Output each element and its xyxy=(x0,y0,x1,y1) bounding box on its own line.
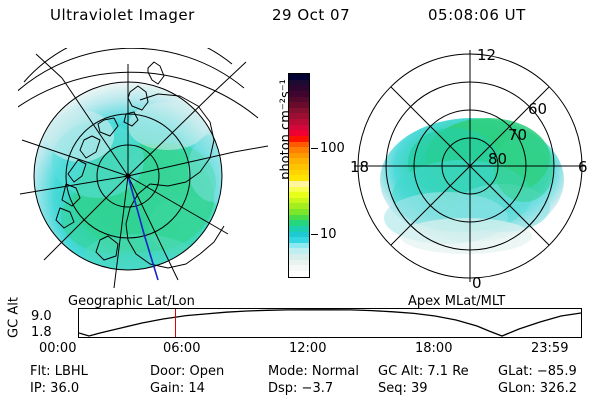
time-tick-1800: 18:00 xyxy=(415,341,452,356)
gc-alt-tick-low: 1.8 xyxy=(31,326,52,339)
colorbar-label-10: 10 xyxy=(320,228,337,241)
page-title: Ultraviolet Imager xyxy=(50,6,195,24)
time-tick-1200: 12:00 xyxy=(289,341,326,356)
magnetic-polar-plot[interactable]: 12 6 0 18 60 70 80 xyxy=(342,40,597,292)
colorbar-gradient xyxy=(288,73,310,278)
observation-time: 05:08:06 UT xyxy=(428,6,526,24)
status-door: Door: Open xyxy=(150,364,224,379)
pole-marker xyxy=(125,173,130,178)
mlt-label-18: 18 xyxy=(350,158,369,176)
status-dsp: Dsp: −3.7 xyxy=(268,381,333,396)
gc-alt-axis-label: GC Alt xyxy=(7,290,22,346)
colorbar-legend: photon cm⁻²s⁻¹ 100 10 xyxy=(268,60,338,290)
status-ip: IP: 36.0 xyxy=(30,381,79,396)
status-mode: Mode: Normal xyxy=(268,364,359,379)
mlat-label-70: 70 xyxy=(508,126,527,144)
colorbar-segment-35 xyxy=(289,271,309,277)
geographic-polar-plot[interactable] xyxy=(18,48,268,293)
mlt-label-0: 0 xyxy=(472,274,482,292)
time-tick-0600: 06:00 xyxy=(163,341,200,356)
status-filter: Flt: LBHL xyxy=(30,364,88,379)
instrument-status-block: Flt: LBHL IP: 36.0 Door: Open Gain: 14 M… xyxy=(0,364,600,398)
status-gc-alt: GC Alt: 7.1 Re xyxy=(378,364,469,379)
mlat-label-80: 80 xyxy=(488,150,507,168)
observation-date: 29 Oct 07 xyxy=(272,6,350,24)
time-tick-2359: 23:59 xyxy=(531,341,568,356)
status-seq: Seq: 39 xyxy=(378,381,428,396)
strip-title-magnetic: Apex MLat/MLT xyxy=(408,294,505,309)
colorbar-tick-100 xyxy=(311,148,318,149)
mlt-spokes xyxy=(354,50,586,282)
mlt-label-12: 12 xyxy=(477,46,496,64)
mlat-label-60: 60 xyxy=(528,100,547,118)
time-tick-0000: 00:00 xyxy=(39,341,76,356)
altitude-strip-chart[interactable] xyxy=(78,308,582,338)
header-bar: Ultraviolet Imager 29 Oct 07 05:08:06 UT xyxy=(0,6,600,30)
altitude-trace xyxy=(79,310,581,336)
mlt-label-6: 6 xyxy=(578,158,588,176)
colorbar-tick-10 xyxy=(311,234,318,235)
status-gain: Gain: 14 xyxy=(150,381,205,396)
strip-title-geographic: Geographic Lat/Lon xyxy=(68,294,195,309)
time-marker-line xyxy=(175,309,176,337)
gc-alt-tick-high: 9.0 xyxy=(31,310,52,323)
status-glat: GLat: −85.9 xyxy=(498,364,577,379)
status-glon: GLon: 326.2 xyxy=(498,381,577,396)
